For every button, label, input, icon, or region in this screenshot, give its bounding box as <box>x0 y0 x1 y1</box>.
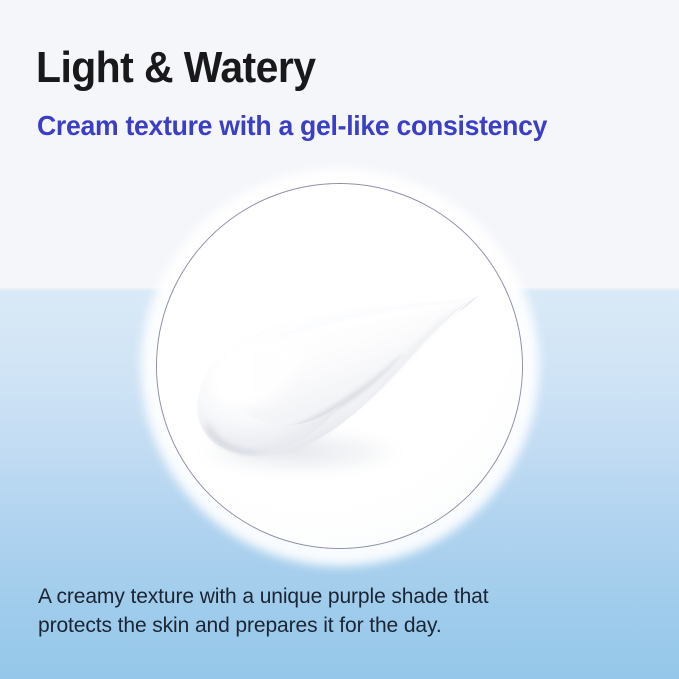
page-subtitle: Cream texture with a gel-like consistenc… <box>37 108 547 144</box>
caption-line-2: protects the skin and prepares it for th… <box>38 611 628 640</box>
product-texture-circle <box>156 183 523 549</box>
caption-block: A creamy texture with a unique purple sh… <box>38 582 628 640</box>
infographic-canvas: Light & Watery Cream texture with a gel-… <box>0 0 679 679</box>
page-title: Light & Watery <box>36 42 315 94</box>
caption-line-1: A creamy texture with a unique purple sh… <box>38 582 628 611</box>
circle-inner-shade <box>157 184 522 548</box>
